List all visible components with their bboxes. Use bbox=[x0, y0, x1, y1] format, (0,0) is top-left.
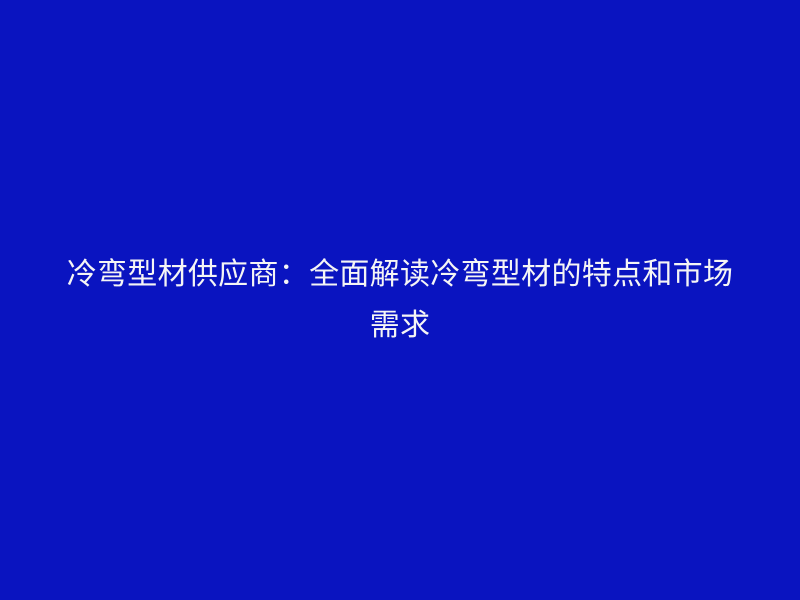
page-title: 冷弯型材供应商：全面解读冷弯型材的特点和市场需求 bbox=[54, 249, 746, 351]
title-block: 冷弯型材供应商：全面解读冷弯型材的特点和市场需求 bbox=[50, 249, 750, 351]
title-card: 冷弯型材供应商：全面解读冷弯型材的特点和市场需求 bbox=[0, 0, 800, 600]
